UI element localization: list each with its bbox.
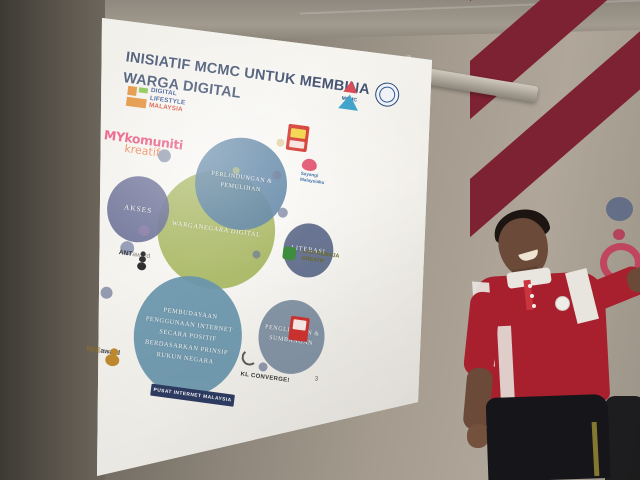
logo-red-badge-bottom [288,316,310,342]
logo-sayangi-malaysiaku: Sayangi Malaysiaku [300,158,351,188]
decorative-dot [276,138,285,147]
decorative-dot [277,207,288,218]
decorative-dot [100,286,113,300]
logo-mcmc: MCMC [332,75,369,104]
bee-award-wordmark: BEEaward [75,344,131,358]
liga-remaja-wordmark: LIGA REMAJA KREATIF [301,249,339,267]
digital-lifestyle-icon [126,86,149,110]
sayangi-wordmark: Sayangi Malaysiaku [300,171,349,188]
logo-bee-award: BEEaward [75,343,131,358]
slide-content: INISIATIF MCMC UNTUK MEMBINA WARGA DIGIT… [56,22,422,454]
logo-ant-award: ANTaward [107,247,162,262]
logo-kl-converge: KL CONVERGE! [238,348,304,392]
liga-remaja-icon [282,246,296,261]
mcmc-icon [338,76,362,110]
presenter [455,196,640,480]
logo-mykomuniti-kreatif: MYkomuniti kreatif [102,127,196,164]
photo-scene: INISIATIF MCMC UNTUK MEMBINA WARGA DIGIT… [0,0,640,480]
slide-page-number: 3 [314,375,318,382]
presenter-shadow [605,396,640,480]
digital-lifestyle-wordmark: DIGITAL LIFESTYLE MALAYSIA [148,87,186,115]
logo-red-badge-top [286,124,310,153]
ant-award-wordmark: ANTaward [107,248,161,262]
presenter-shirt-button [532,304,536,308]
kl-converge-icon [241,348,259,366]
presenter-shirt-button [530,294,534,298]
bubble-pembudayaan-internet: PEMBUDAYAAN PENGGUNAAN INTERNET SECARA P… [127,269,249,403]
presenter-shirt-button [528,284,532,288]
presenter-shirt-badge [555,296,570,311]
heart-icon [301,158,317,172]
